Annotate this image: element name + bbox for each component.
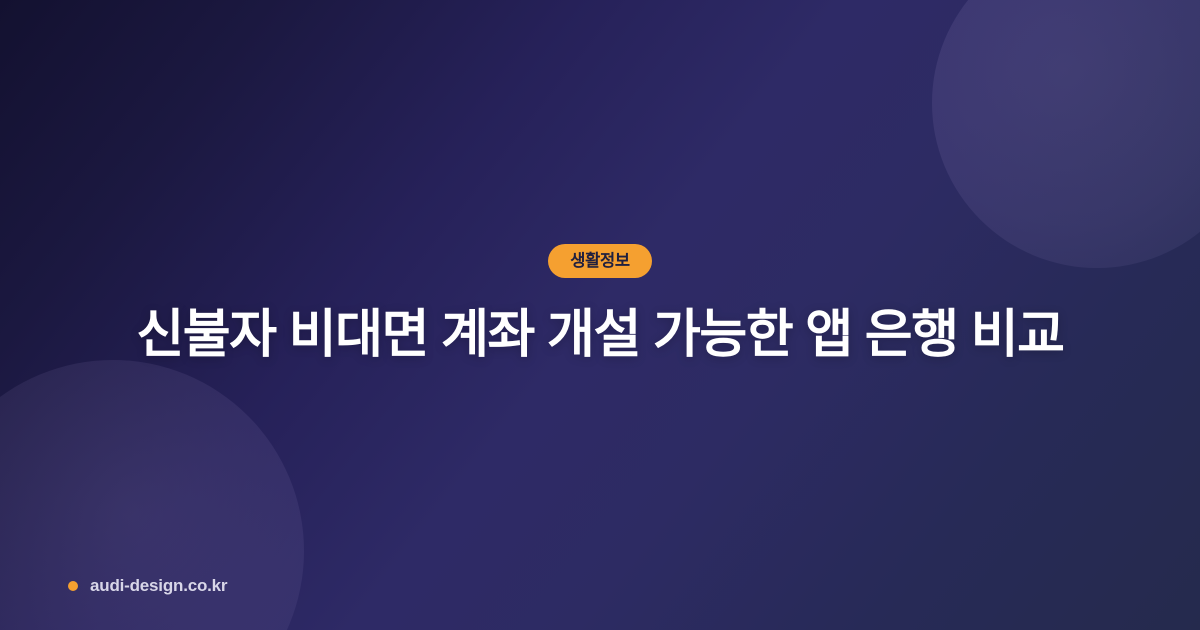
- site-domain-label[interactable]: audi-design.co.kr: [90, 577, 227, 594]
- bullet-dot-icon: [68, 581, 78, 591]
- category-badge[interactable]: 생활정보: [548, 244, 652, 278]
- page-title: 신불자 비대면 계좌 개설 가능한 앱 은행 비교: [136, 304, 1063, 367]
- thumbnail-card: 생활정보 신불자 비대면 계좌 개설 가능한 앱 은행 비교 audi-desi…: [0, 0, 1200, 630]
- card-content: 생활정보 신불자 비대면 계좌 개설 가능한 앱 은행 비교: [0, 0, 1200, 630]
- site-footer: audi-design.co.kr: [68, 577, 227, 594]
